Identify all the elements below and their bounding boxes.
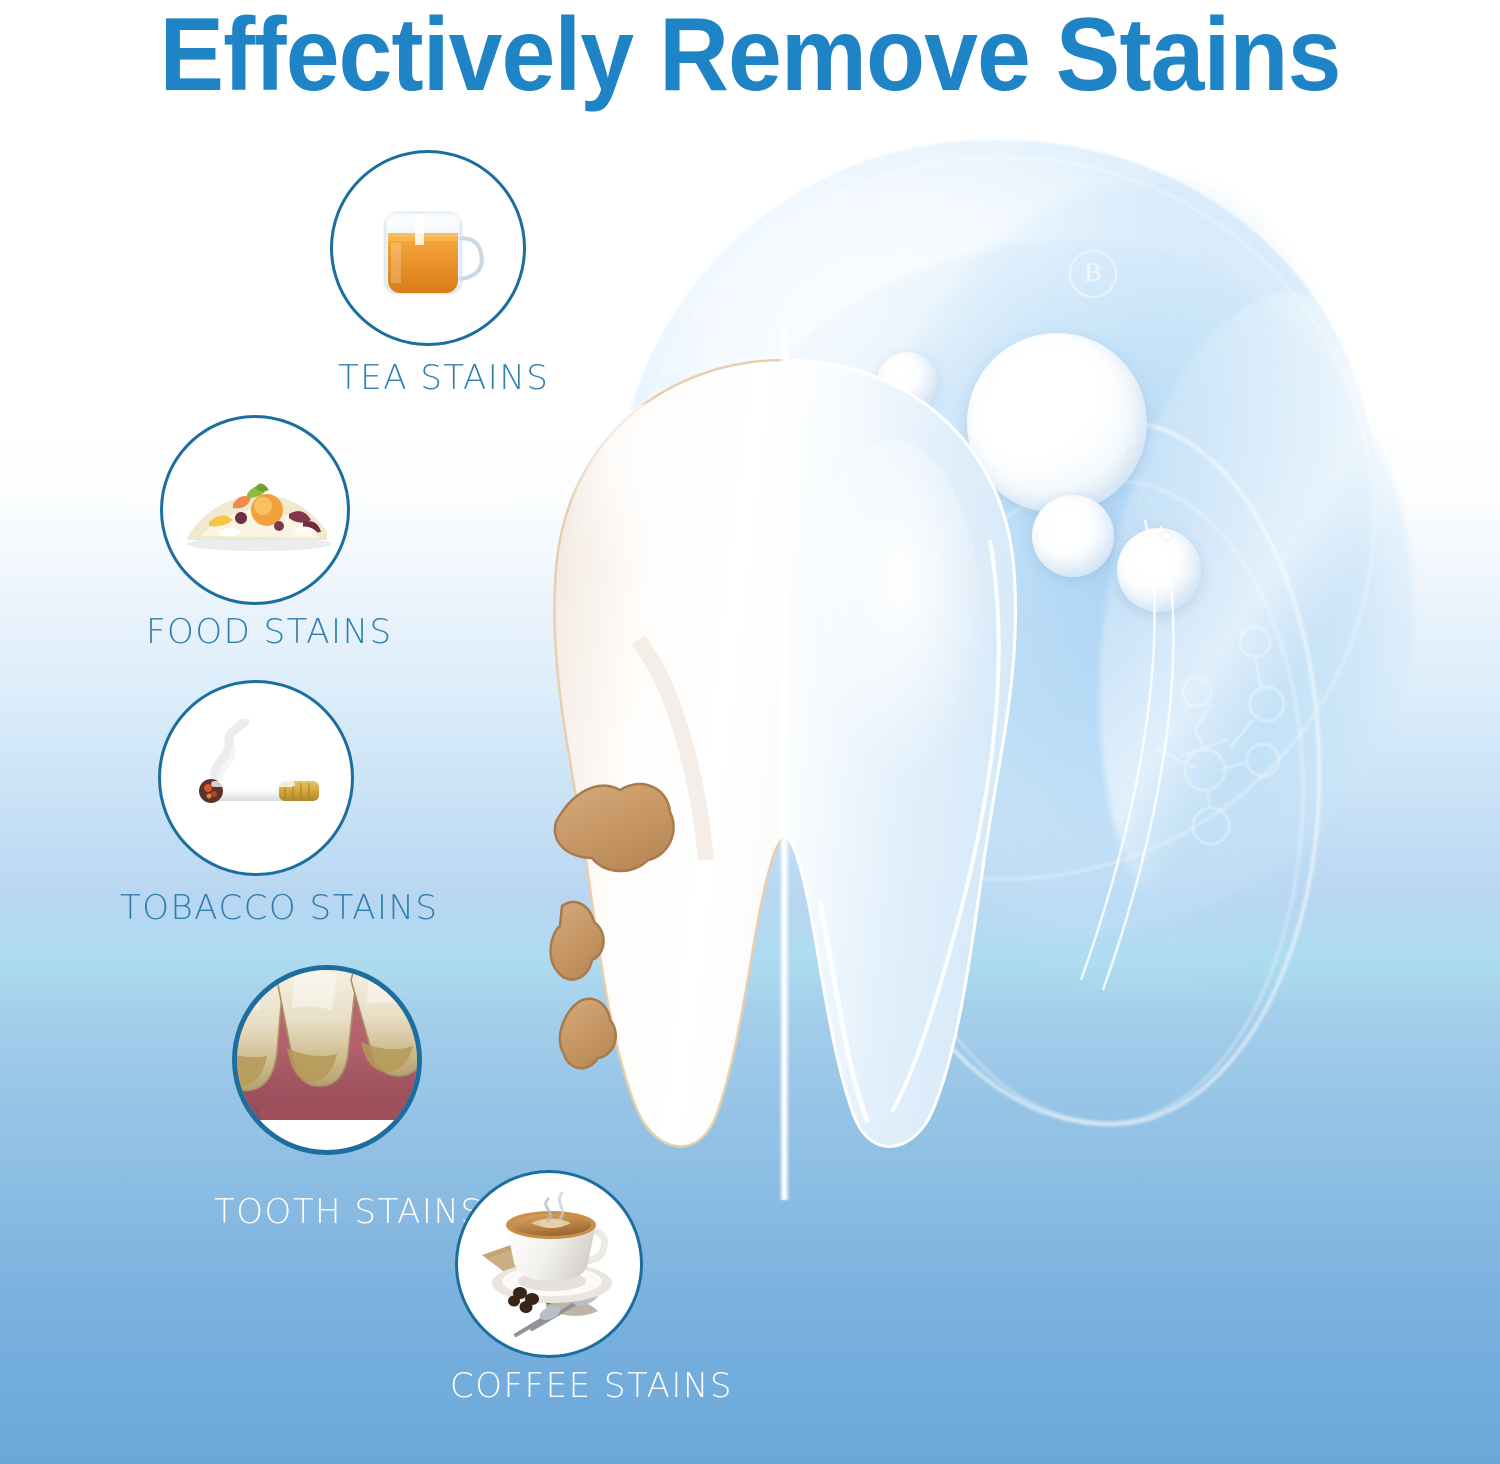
tea-glass-mug-icon: [371, 199, 493, 305]
feature-food-circle[interactable]: [160, 415, 350, 605]
stained-teeth-gums-icon: [232, 965, 422, 1146]
tooth-half-stained: [520, 340, 785, 1190]
food-pile-icon: [175, 470, 341, 556]
hero-tooth: [520, 340, 1050, 1190]
feature-tooth-circle[interactable]: [232, 965, 422, 1155]
feature-tooth-label: TOOTH STAINS: [214, 1192, 483, 1232]
feature-tea-label: TEA STAINS: [338, 358, 549, 398]
feature-coffee-label: COFFEE STAINS: [450, 1366, 733, 1406]
coffee-cup-saucer-icon: [476, 1189, 634, 1341]
feature-tobacco-circle[interactable]: [158, 680, 354, 876]
tooth-split-divider: [779, 330, 790, 1200]
lit-cigarette-icon: [175, 719, 343, 829]
infographic-canvas: Effectively Remove Stains B: [0, 0, 1500, 1464]
feature-tobacco-label: TOBACCO STAINS: [120, 888, 439, 928]
brand-watermark-icon: B: [1069, 250, 1117, 298]
tooth-half-clean: [785, 340, 1050, 1190]
feature-food-label: FOOD STAINS: [146, 612, 393, 652]
page-title: Effectively Remove Stains: [53, 0, 1448, 114]
feature-coffee-circle[interactable]: [455, 1170, 643, 1358]
feature-tea-circle[interactable]: [330, 150, 526, 346]
